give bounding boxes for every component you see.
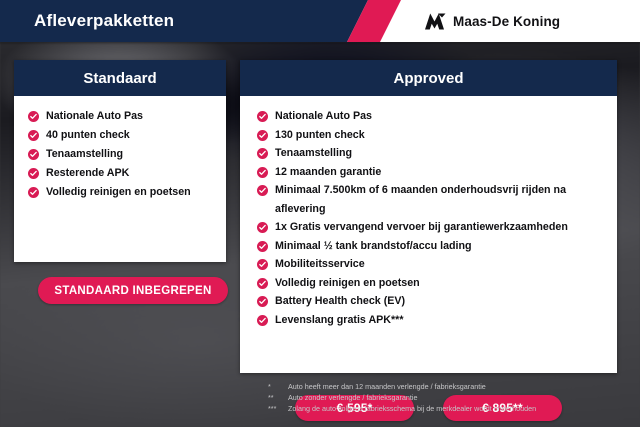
feature-label: Tenaamstelling bbox=[46, 145, 123, 164]
check-circle-icon bbox=[28, 149, 39, 160]
list-item: Levenslang gratis APK*** bbox=[257, 311, 617, 330]
check-circle-icon bbox=[28, 168, 39, 179]
brand-logo: Maas-De Koning bbox=[423, 0, 560, 42]
feature-label: Nationale Auto Pas bbox=[275, 107, 372, 126]
card-title-standaard: Standaard bbox=[83, 70, 156, 87]
feature-label: Tenaamstelling bbox=[275, 144, 352, 163]
list-item: Resterende APK bbox=[28, 164, 226, 183]
footnote-text: Auto zonder verlengde / fabrieksgarantie bbox=[288, 392, 417, 403]
footnote-marker: ** bbox=[268, 392, 288, 403]
feature-label: Volledig reinigen en poetsen bbox=[46, 183, 191, 202]
package-card-approved: Approved Nationale Auto Pas 130 punten c… bbox=[240, 60, 617, 373]
footnote-item: ** Auto zonder verlengde / fabrieksgaran… bbox=[268, 392, 628, 403]
feature-label: Nationale Auto Pas bbox=[46, 107, 143, 126]
feature-label: 12 maanden garantie bbox=[275, 163, 381, 182]
standaard-inbegrepen-button[interactable]: STANDAARD INBEGREPEN bbox=[38, 277, 228, 304]
check-circle-icon bbox=[257, 315, 268, 326]
check-circle-icon bbox=[257, 222, 268, 233]
list-item: Nationale Auto Pas bbox=[257, 107, 617, 126]
check-circle-icon bbox=[257, 296, 268, 307]
check-circle-icon bbox=[257, 259, 268, 270]
footnote-marker: * bbox=[268, 381, 288, 392]
check-circle-icon bbox=[28, 111, 39, 122]
list-item: Battery Health check (EV) bbox=[257, 292, 617, 311]
page-header: Afleverpakketten Maas-De Koning bbox=[0, 0, 640, 42]
list-item: Nationale Auto Pas bbox=[28, 107, 226, 126]
list-item: 40 punten check bbox=[28, 126, 226, 145]
feature-label: 1x Gratis vervangend vervoer bij garanti… bbox=[275, 218, 568, 237]
package-card-standaard: Standaard Nationale Auto Pas 40 punten c… bbox=[14, 60, 226, 262]
feature-label: Minimaal ½ tank brandstof/accu lading bbox=[275, 237, 472, 256]
feature-label: Minimaal 7.500km of 6 maanden onderhouds… bbox=[275, 181, 593, 218]
slide-root: Afleverpakketten Maas-De Koning Standaar… bbox=[0, 0, 640, 427]
list-item: Volledig reinigen en poetsen bbox=[257, 274, 617, 293]
check-circle-icon bbox=[257, 111, 268, 122]
footnote-marker: *** bbox=[268, 403, 288, 414]
feature-label: Volledig reinigen en poetsen bbox=[275, 274, 420, 293]
footnote-text: Auto heeft meer dan 12 maanden verlengde… bbox=[288, 381, 486, 392]
card-header-approved: Approved bbox=[240, 60, 617, 96]
check-circle-icon bbox=[257, 167, 268, 178]
check-circle-icon bbox=[257, 148, 268, 159]
list-item: Tenaamstelling bbox=[257, 144, 617, 163]
feature-list-approved: Nationale Auto Pas 130 punten check Tena… bbox=[240, 96, 617, 329]
maas-de-koning-m-icon bbox=[423, 13, 446, 30]
card-title-approved: Approved bbox=[393, 70, 463, 87]
list-item: Mobiliteitsservice bbox=[257, 255, 617, 274]
footnote-block: * Auto heeft meer dan 12 maanden verleng… bbox=[268, 381, 628, 414]
feature-label: 40 punten check bbox=[46, 126, 130, 145]
check-circle-icon bbox=[28, 187, 39, 198]
feature-label: 130 punten check bbox=[275, 126, 365, 145]
list-item: 130 punten check bbox=[257, 126, 617, 145]
feature-list-standaard: Nationale Auto Pas 40 punten check Tenaa… bbox=[14, 96, 226, 202]
feature-label: Mobiliteitsservice bbox=[275, 255, 365, 274]
footnote-item: * Auto heeft meer dan 12 maanden verleng… bbox=[268, 381, 628, 392]
check-circle-icon bbox=[28, 130, 39, 141]
list-item: Minimaal 7.500km of 6 maanden onderhouds… bbox=[257, 181, 617, 218]
list-item: Tenaamstelling bbox=[28, 145, 226, 164]
check-circle-icon bbox=[257, 241, 268, 252]
list-item: 1x Gratis vervangend vervoer bij garanti… bbox=[257, 218, 617, 237]
list-item: 12 maanden garantie bbox=[257, 163, 617, 182]
list-item: Volledig reinigen en poetsen bbox=[28, 183, 226, 202]
feature-label: Battery Health check (EV) bbox=[275, 292, 405, 311]
page-title: Afleverpakketten bbox=[34, 0, 174, 42]
list-item: Minimaal ½ tank brandstof/accu lading bbox=[257, 237, 617, 256]
footnote-item: *** Zolang de auto volgens fabrieksschem… bbox=[268, 403, 628, 414]
check-circle-icon bbox=[257, 185, 268, 196]
feature-label: Resterende APK bbox=[46, 164, 129, 183]
card-header-standaard: Standaard bbox=[14, 60, 226, 96]
brand-name: Maas-De Koning bbox=[453, 14, 560, 29]
footnote-text: Zolang de auto volgens fabrieksschema bi… bbox=[288, 403, 536, 414]
header-shadow bbox=[0, 42, 640, 45]
check-circle-icon bbox=[257, 130, 268, 141]
feature-label: Levenslang gratis APK*** bbox=[275, 311, 404, 330]
check-circle-icon bbox=[257, 278, 268, 289]
